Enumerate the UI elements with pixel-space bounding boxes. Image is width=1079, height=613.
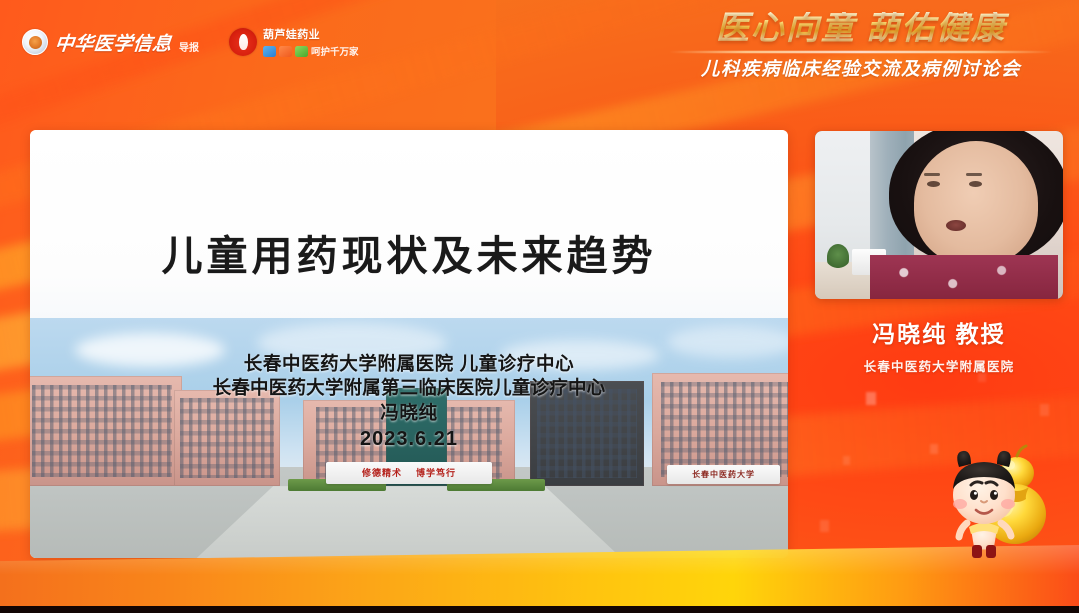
speaker-face (914, 141, 1038, 265)
chip-blue-icon (263, 46, 276, 57)
gate-sign-left-text: 修德精术 (362, 466, 402, 479)
sponsor-logo-secondary: 葫芦娃药业 呵护千万家 (229, 26, 359, 58)
sponsor-secondary-line2-row: 呵护千万家 (263, 44, 359, 58)
title-divider (669, 51, 1053, 53)
presentation-slide[interactable]: 修德精术 博学笃行 长春中医药大学 儿童用药现状及未来趋势 长春中医药大学附属医… (30, 130, 788, 558)
sponsor-wordmark-suffix: 导报 (179, 39, 199, 56)
event-title-main: 医心向童 葫佑健康 (661, 12, 1061, 48)
slide-caption: 长春中医药大学附属医院 儿童诊疗中心 长春中医药大学附属第三临床医院儿童诊疗中心… (30, 352, 788, 453)
plant-icon (827, 244, 849, 270)
sparkle-icon (820, 520, 829, 532)
event-title: 医心向童 葫佑健康 儿科疾病临床经验交流及病例讨论会 (661, 12, 1061, 81)
campus-gate-sign: 修德精术 博学笃行 (326, 462, 493, 484)
sparkle-icon (866, 392, 876, 405)
slide-caption-line3: 冯晓纯 (30, 401, 788, 425)
mascot-head (953, 451, 1015, 524)
sponsor-secondary-line1: 葫芦娃药业 (263, 26, 359, 42)
chip-green-icon (295, 46, 308, 57)
sponsor-secondary-line2: 呵护千万家 (311, 44, 359, 58)
gourd-boy-mascot (931, 441, 1057, 569)
sponsor-logo-bar: 中华医学信息 导报 葫芦娃药业 呵护千万家 (22, 26, 359, 58)
speaker-shirt (870, 255, 1058, 299)
sponsor-secondary-text: 葫芦娃药业 呵护千万家 (263, 26, 359, 58)
gate-sign-right-text: 博学笃行 (416, 466, 456, 479)
sponsor-logo-primary: 中华医学信息 导报 (22, 29, 199, 56)
campus-sign-text: 长春中医药大学 (692, 469, 755, 480)
speaker-name: 冯晓纯 教授 (815, 315, 1063, 349)
event-title-sub: 儿科疾病临床经验交流及病例讨论会 (661, 55, 1061, 81)
campus-university-sign: 长春中医药大学 (667, 465, 781, 484)
slide-caption-line2: 长春中医药大学附属第三临床医院儿童诊疗中心 (30, 376, 788, 400)
gourd-logo-icon (229, 28, 257, 56)
speaker-info: 冯晓纯 教授 长春中医药大学附属医院 (815, 315, 1063, 375)
chip-orange-icon (279, 46, 292, 57)
video-inner (815, 131, 1063, 299)
medical-association-emblem-icon (22, 29, 48, 55)
sparkle-icon (1040, 404, 1049, 416)
slide-caption-line1: 长春中医药大学附属医院 儿童诊疗中心 (30, 352, 788, 376)
slide-caption-date: 2023.6.21 (30, 426, 788, 452)
sparkle-icon (843, 456, 850, 465)
letterbox-bottom (0, 606, 1079, 613)
slide-title: 儿童用药现状及未来趋势 (30, 222, 788, 282)
speaker-org: 长春中医药大学附属医院 (815, 356, 1063, 375)
speaker-video-feed[interactable] (815, 131, 1063, 299)
sponsor-wordmark: 中华医学信息 (54, 29, 174, 56)
webinar-broadcast-screen: 中华医学信息 导报 葫芦娃药业 呵护千万家 医心向童 葫佑健康 儿科疾病临床经验… (0, 0, 1079, 613)
